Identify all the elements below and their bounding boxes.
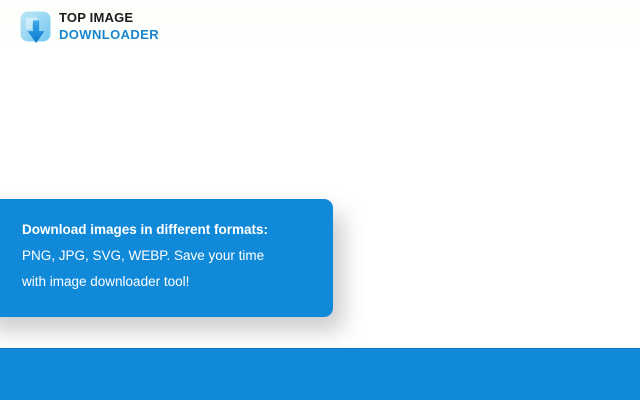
- site-header: TOP IMAGE DOWNLOADER: [0, 0, 640, 56]
- download-arrow-icon: [20, 11, 51, 42]
- brand-wordmark: TOP IMAGE DOWNLOADER: [59, 11, 159, 42]
- promo-card: Download images in different formats: PN…: [0, 199, 333, 317]
- promo-subline-2: with image downloader tool!: [22, 269, 311, 295]
- brand-title-line1: TOP IMAGE: [59, 11, 159, 25]
- brand-title-line2: DOWNLOADER: [59, 27, 159, 42]
- promo-subline-1: PNG, JPG, SVG, WEBP. Save your time: [22, 243, 311, 269]
- promo-headline: Download images in different formats:: [22, 217, 311, 243]
- brand-logo-link[interactable]: TOP IMAGE DOWNLOADER: [20, 11, 159, 42]
- page-root: TOP IMAGE DOWNLOADER Download images in …: [0, 0, 640, 400]
- footer-band: [0, 348, 640, 400]
